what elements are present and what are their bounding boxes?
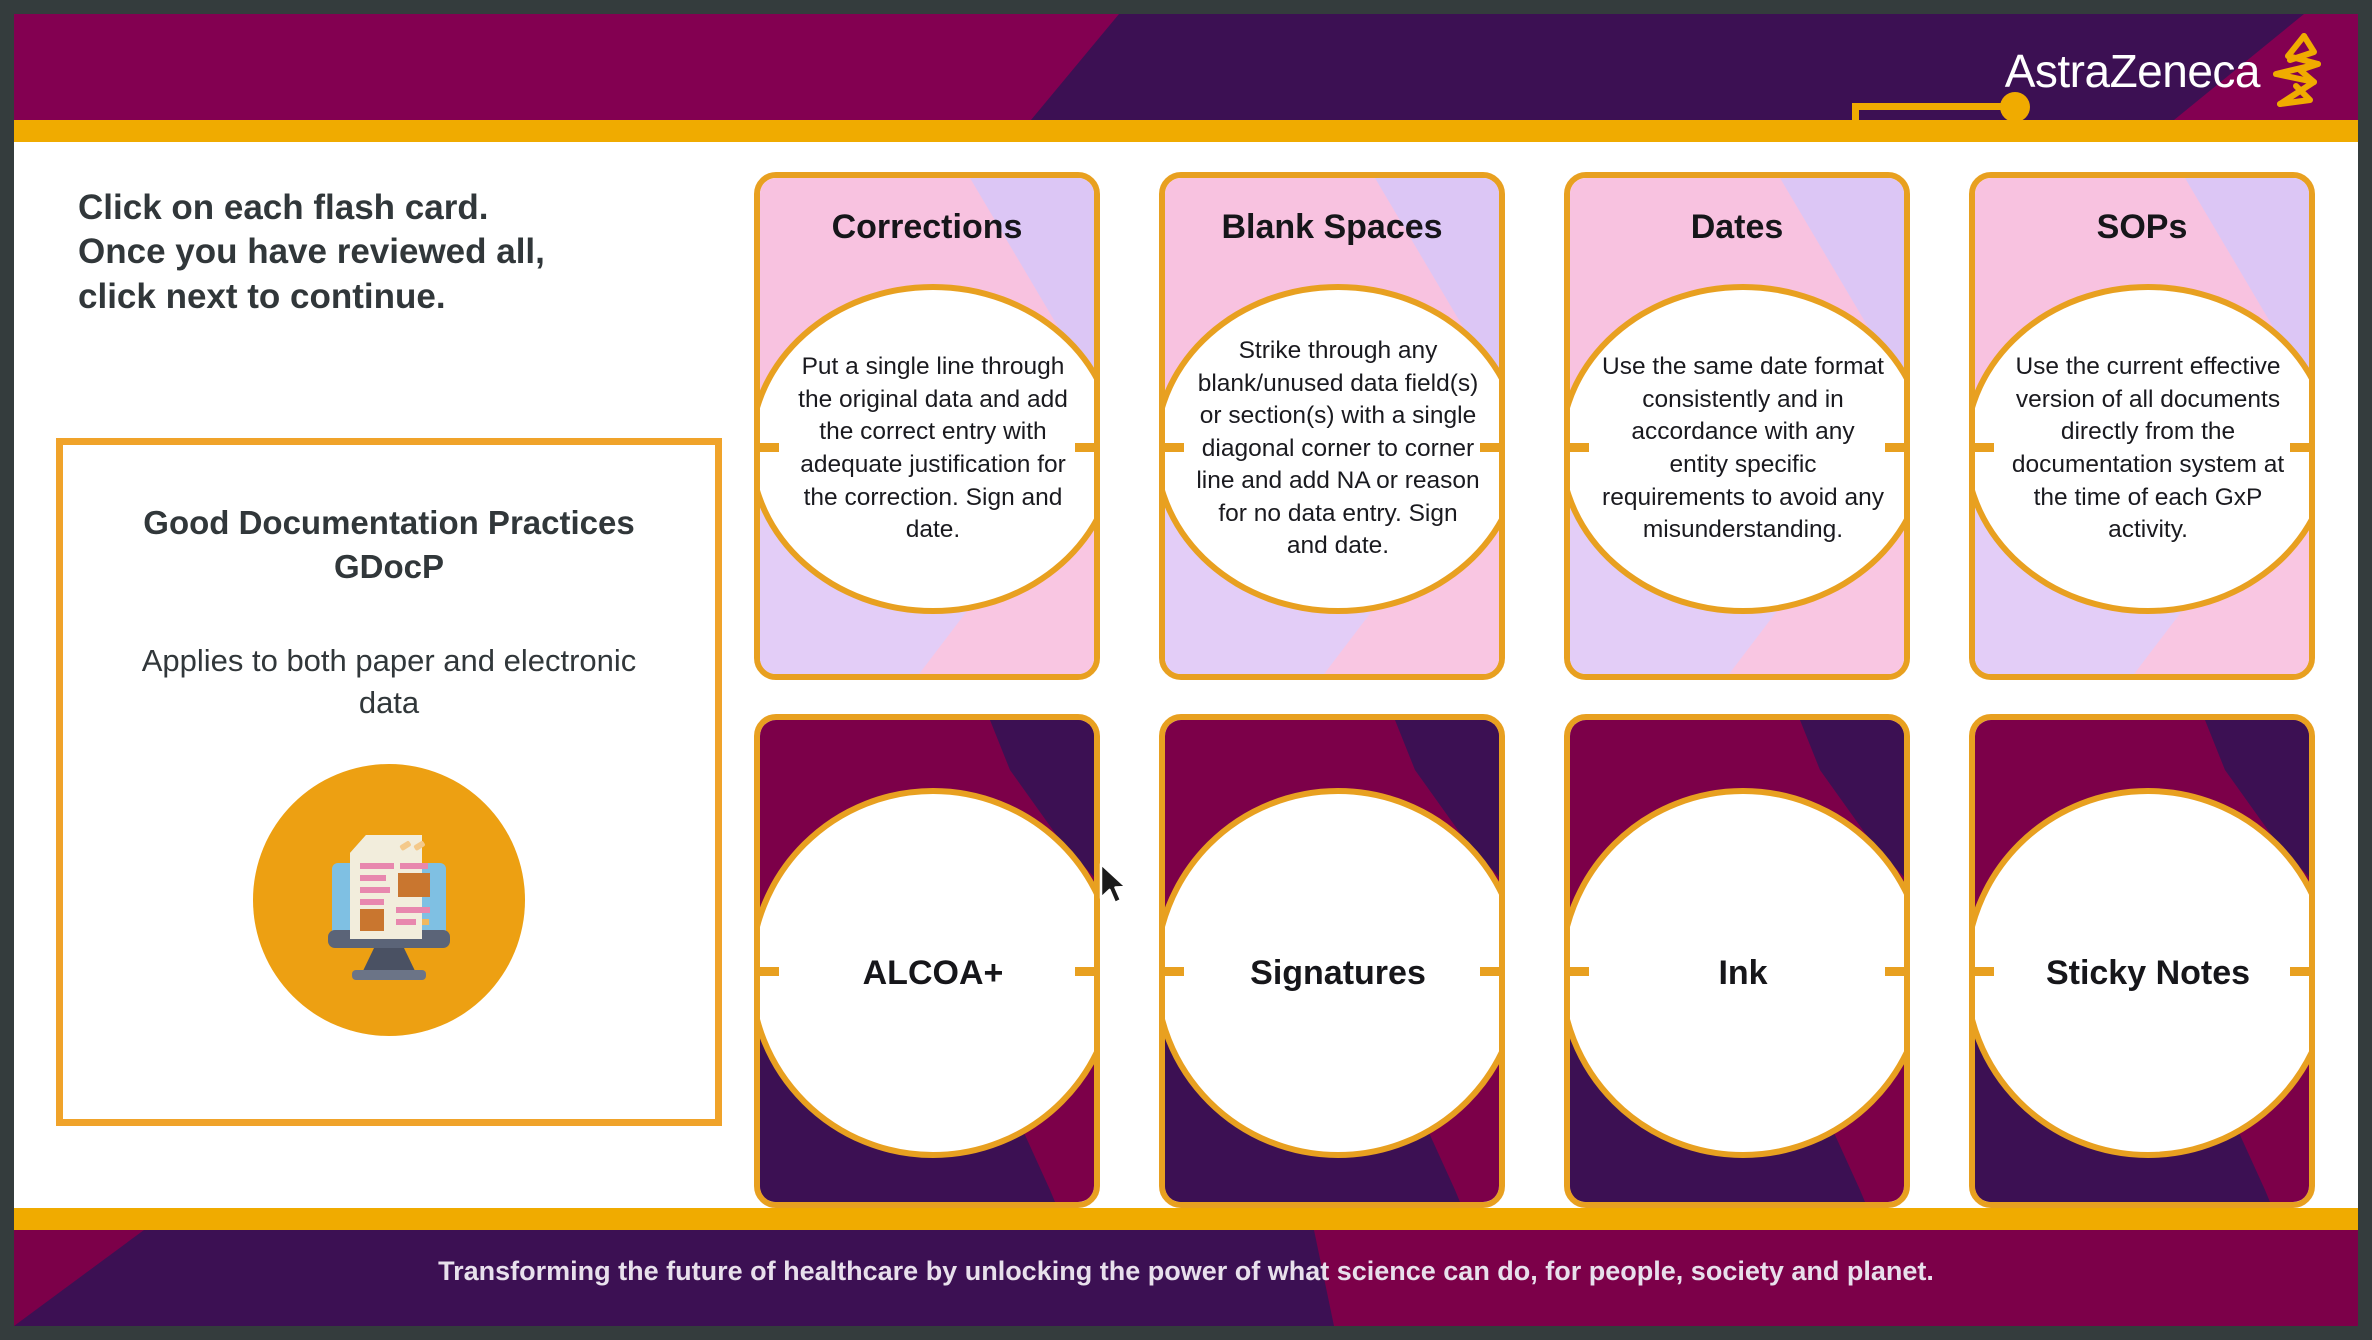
circle-tab-right-icon [1075,443,1097,452]
circle-tab-left-icon [757,967,779,976]
circle-tab-right-icon [1075,967,1097,976]
flashcard-label: Sticky Notes [2046,954,2250,993]
gdocp-title-line-1: Good Documentation Practices [85,501,693,545]
instruction-line-1: Click on each flash card. [78,186,698,230]
flashcard-label: Ink [1718,954,1767,993]
instructions-text: Click on each flash card. Once you have … [78,186,698,319]
brand-name: AstraZeneca [2005,44,2260,98]
flashcard-blank-spaces[interactable]: Blank Spaces Strike through any blank/un… [1159,172,1505,680]
flashcard-body: Strike through any blank/unused data fie… [1178,335,1498,563]
gdocp-title: Good Documentation Practices GDocP [63,501,715,588]
logo-connector-line [1852,60,2022,120]
circle-tab-left-icon [1972,967,1994,976]
gdocp-subtitle: Applies to both paper and electronic dat… [63,640,715,724]
flashcard-circle: Signatures [1159,788,1505,1158]
flashcard-title: Dates [1570,208,1904,247]
circle-tab-right-icon [1885,443,1907,452]
flashcard-circle: Sticky Notes [1969,788,2315,1158]
flashcard-circle: Use the current effective version of all… [1969,284,2315,614]
flashcard-label: ALCOA+ [863,954,1004,993]
flashcard-corrections[interactable]: Corrections Put a single line through th… [754,172,1100,680]
header-banner: AstraZeneca [14,14,2358,120]
circle-tab-right-icon [2290,967,2312,976]
header-accent-rule [14,120,2358,142]
brand-lockup: AstraZeneca [2005,44,2260,98]
instruction-line-3: click next to continue. [78,275,698,319]
flashcard-circle: ALCOA+ [754,788,1100,1158]
footer-banner: Transforming the future of healthcare by… [14,1230,2358,1326]
flashcard-signatures[interactable]: Signatures [1159,714,1505,1208]
flashcard-title: SOPs [1975,208,2309,247]
astrazeneca-helix-logo-icon [2260,30,2336,110]
flashcard-sticky-notes[interactable]: Sticky Notes [1969,714,2315,1208]
circle-tab-left-icon [1567,443,1589,452]
flashcard-body: Use the same date format consistently an… [1583,351,1903,546]
footer-accent-rule [14,1208,2358,1230]
circle-tab-left-icon [1972,443,1994,452]
gdocp-info-card: Good Documentation Practices GDocP Appli… [56,438,722,1126]
circle-tab-left-icon [1162,443,1184,452]
flashcard-sops[interactable]: SOPs Use the current effective version o… [1969,172,2315,680]
circle-tab-left-icon [757,443,779,452]
footer-tagline: Transforming the future of healthcare by… [14,1256,2358,1287]
circle-tab-right-icon [1480,443,1502,452]
flashcard-circle: Strike through any blank/unused data fie… [1159,284,1505,614]
flashcard-body: Put a single line through the original d… [773,351,1093,546]
flashcard-label: Signatures [1250,954,1426,993]
flashcard-dates[interactable]: Dates Use the same date format consisten… [1564,172,1910,680]
gdocp-title-line-2: GDocP [85,545,693,589]
flashcard-circle: Use the same date format consistently an… [1564,284,1910,614]
flashcard-body: Use the current effective version of all… [1988,351,2308,546]
circle-tab-left-icon [1162,967,1184,976]
instruction-line-2: Once you have reviewed all, [78,230,698,274]
gdocp-icon-wrap [63,764,715,1036]
circle-tab-right-icon [2290,443,2312,452]
flashcard-title: Blank Spaces [1165,208,1499,247]
circle-tab-left-icon [1567,967,1589,976]
slide-canvas: AstraZeneca Click on each flash card. On… [14,14,2358,1326]
circle-tab-right-icon [1480,967,1502,976]
flashcard-circle: Ink [1564,788,1910,1158]
circle-tab-right-icon [1885,967,1907,976]
computer-document-icon [253,764,525,1036]
flashcard-alcoa-plus[interactable]: ALCOA+ [754,714,1100,1208]
flashcard-circle: Put a single line through the original d… [754,284,1100,614]
flashcard-title: Corrections [760,208,1094,247]
mouse-pointer-icon [1098,862,1132,908]
flashcard-ink[interactable]: Ink [1564,714,1910,1208]
